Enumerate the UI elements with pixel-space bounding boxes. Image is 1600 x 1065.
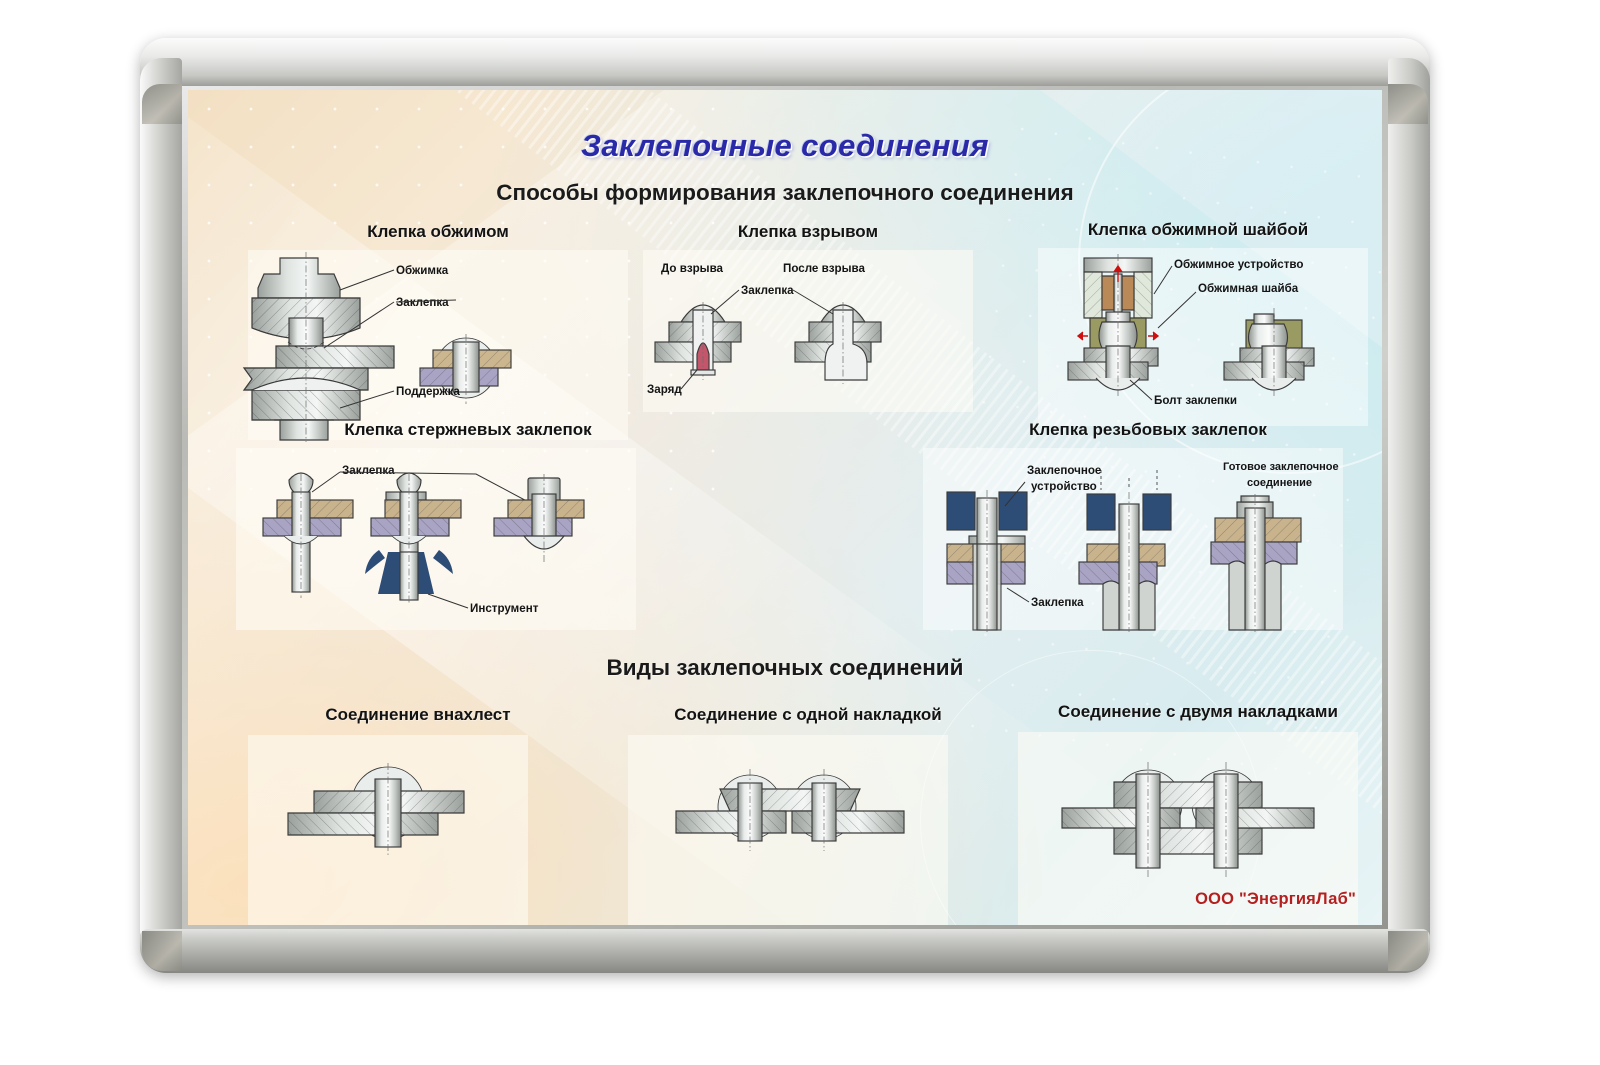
- panel-title-dve-nakladki: Соединение с двумя накладками: [998, 702, 1382, 722]
- label-instrument: Инструмент: [470, 602, 539, 615]
- label-zaklepka-4: Заклепка: [1031, 596, 1084, 609]
- label-zaklepka-3: Заклепка: [342, 464, 395, 477]
- panel-title-kleepka-rezbovyh: Клепка резьбовых заклепок: [948, 420, 1348, 440]
- label-gotovoe-2: соединение: [1247, 477, 1312, 489]
- panel-title-odna-nakladka: Соединение с одной накладкой: [608, 705, 1008, 725]
- label-zaklepka-1: Заклепка: [396, 296, 449, 309]
- frame-corner-top-right: [1388, 84, 1428, 124]
- section-heading-methods: Способы формирования заклепочного соедин…: [188, 180, 1382, 206]
- panel-title-kleepka-obzhimnoy-shayboy: Клепка обжимной шайбой: [1028, 220, 1368, 240]
- figure-kleepka-obzhimnoy-shayboy: Обжимное устройство Обжимная шайба Болт …: [1038, 248, 1368, 428]
- panel-title-vnahlest: Соединение внахлест: [258, 705, 578, 725]
- figure-joint-odna-nakladka: [628, 735, 948, 885]
- label-gotovoe-1: Готовое заклепочное: [1223, 461, 1339, 473]
- figure-kleepka-vzryvom: До взрыва После взрыва Заклепка Заряд: [643, 250, 973, 414]
- label-zaklepka-2: Заклепка: [741, 284, 794, 297]
- frame-corner-top-left: [142, 84, 182, 124]
- label-zaryad: Заряд: [647, 383, 682, 396]
- label-obzhimnoe-ustroystvo: Обжимное устройство: [1174, 258, 1303, 271]
- label-posle-vzryva: После взрыва: [783, 262, 865, 275]
- label-zaklepochnoe: Заклепочное: [1027, 464, 1102, 477]
- panel-title-kleepka-obzhimom: Клепка обжимом: [268, 222, 608, 242]
- frame-corner-bottom-right: [1388, 931, 1428, 971]
- figure-joint-dve-nakladki: [1018, 732, 1358, 887]
- figure-joint-vnahlest: [248, 735, 528, 885]
- label-do-vzryva: До взрыва: [661, 262, 724, 275]
- label-ustroystvo: устройство: [1031, 480, 1097, 493]
- frame-right-rail: [1388, 58, 1430, 953]
- page-title: Заклепочные соединения: [188, 128, 1382, 164]
- figure-kleepka-sterzhnevyh: Заклепка Инструмент: [236, 448, 636, 632]
- poster-sheet: Заклепочные соединения Способы формирова…: [188, 90, 1382, 925]
- frame-bottom-rail: [140, 929, 1430, 973]
- section-heading-views: Виды заклепочных соединений: [188, 655, 1382, 681]
- label-bolt-zaklepki: Болт заклепки: [1154, 394, 1237, 407]
- aluminium-frame-board: Заклепочные соединения Способы формирова…: [140, 38, 1430, 973]
- figure-kleepka-obzhimom: Обжимка Заклепка Поддержка: [248, 250, 628, 442]
- panel-title-kleepka-vzryvom: Клепка взрывом: [658, 222, 958, 242]
- frame-top-rail: [140, 38, 1430, 86]
- panel-title-kleepka-sterzhnevyh: Клепка стержневых заклепок: [268, 420, 668, 440]
- figure-kleepka-rezbovyh: Заклепочное устройство Готовое заклепочн…: [923, 448, 1343, 632]
- company-logo: ООО "ЭнергияЛаб": [1195, 890, 1356, 909]
- label-podderzhka: Поддержка: [396, 385, 460, 398]
- label-obzhimka: Обжимка: [396, 264, 449, 277]
- label-obzhimnaya-shayba: Обжимная шайба: [1198, 282, 1299, 295]
- frame-left-rail: [140, 58, 182, 953]
- frame-corner-bottom-left: [142, 931, 182, 971]
